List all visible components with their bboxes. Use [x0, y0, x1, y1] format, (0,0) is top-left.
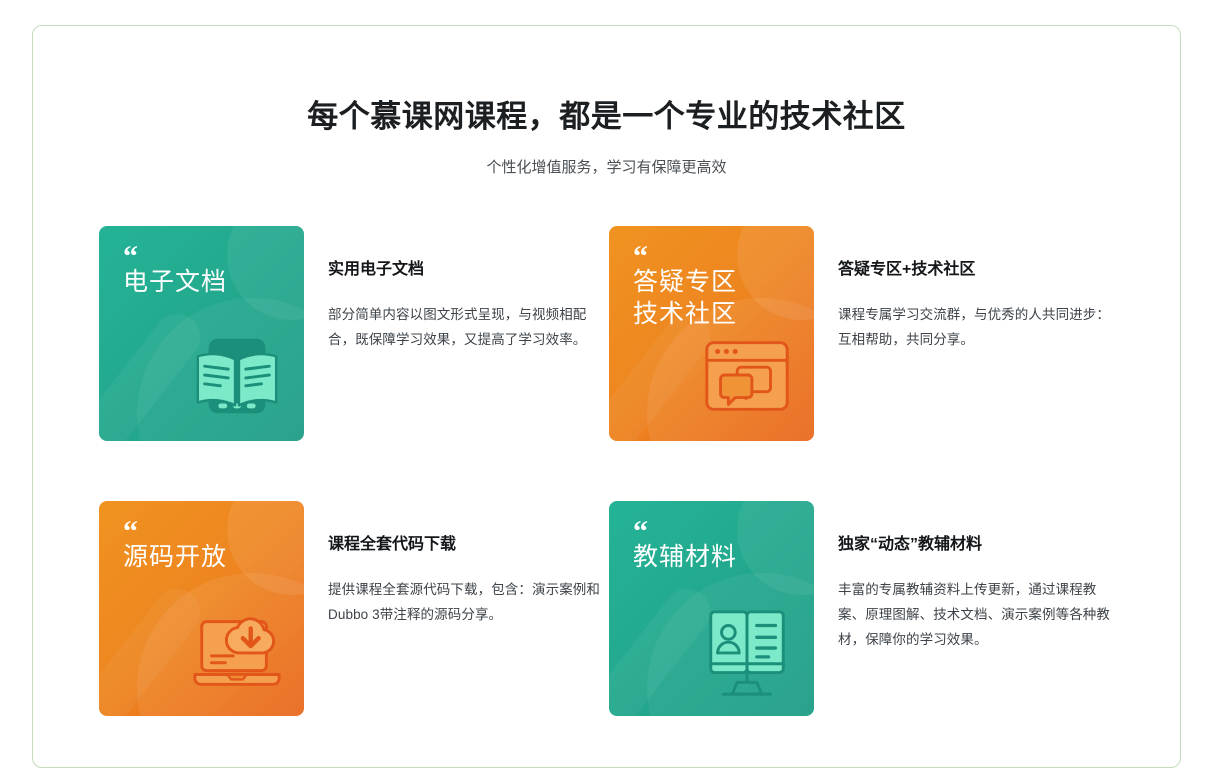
- feature-text-block: 独家“动态”教辅材料 丰富的专属教辅资料上传更新，通过课程教案、原理图解、技术文…: [814, 501, 1110, 653]
- feature-item-electronic-docs: “ 电子文档: [99, 226, 609, 441]
- feature-heading: 实用电子文档: [328, 260, 600, 281]
- feature-item-teaching-materials: “ 教辅材料: [609, 501, 1119, 716]
- feature-text-block: 实用电子文档 部分简单内容以图文形式呈现，与视频相配合，既保障学习效果，又提高了…: [304, 226, 600, 353]
- feature-description: 部分简单内容以图文形式呈现，与视频相配合，既保障学习效果，又提高了学习效率。: [328, 303, 600, 353]
- feature-text-block: 课程全套代码下载 提供课程全套源代码下载，包含：演示案例和Dubbo 3带注释的…: [304, 501, 600, 628]
- feature-tile-qa-community[interactable]: “ 答疑专区 技术社区: [609, 226, 814, 441]
- feature-card-grid: “ 电子文档: [99, 226, 1119, 716]
- feature-tile-title: 答疑专区 技术社区: [633, 266, 737, 330]
- feature-text-block: 答疑专区+技术社区 课程专属学习交流群，与优秀的人共同进步：互相帮助，共同分享。: [814, 226, 1110, 353]
- feature-tile-teaching-materials[interactable]: “ 教辅材料: [609, 501, 814, 716]
- content-frame: 每个慕课网课程，都是一个专业的技术社区 个性化增值服务，学习有保障更高效 “ 电…: [32, 25, 1181, 768]
- open-book-tablet-icon: [188, 327, 286, 425]
- feature-tile-title: 源码开放: [123, 541, 227, 573]
- feature-tile-source-code[interactable]: “ 源码开放: [99, 501, 304, 716]
- page-title: 每个慕课网课程，都是一个专业的技术社区: [33, 98, 1180, 135]
- feature-item-source-code: “ 源码开放 课程全套代码下载 提供: [99, 501, 609, 716]
- feature-heading: 答疑专区+技术社区: [838, 260, 1110, 281]
- feature-tile-electronic-docs[interactable]: “ 电子文档: [99, 226, 304, 441]
- feature-description: 丰富的专属教辅资料上传更新，通过课程教案、原理图解、技术文档、演示案例等各种教材…: [838, 578, 1110, 653]
- feature-description: 课程专属学习交流群，与优秀的人共同进步：互相帮助，共同分享。: [838, 303, 1110, 353]
- feature-item-qa-community: “ 答疑专区 技术社区 答疑专区+技术社区: [609, 226, 1119, 441]
- page-subtitle: 个性化增值服务，学习有保障更高效: [33, 159, 1180, 177]
- feature-tile-title: 教辅材料: [633, 541, 737, 573]
- page-header: 每个慕课网课程，都是一个专业的技术社区 个性化增值服务，学习有保障更高效: [33, 26, 1180, 177]
- feature-heading: 课程全套代码下载: [328, 535, 600, 556]
- monitor-book-person-icon: [698, 602, 796, 700]
- browser-chat-bubbles-icon: [698, 327, 796, 425]
- feature-tile-title: 电子文档: [123, 266, 227, 298]
- feature-description: 提供课程全套源代码下载，包含：演示案例和Dubbo 3带注释的源码分享。: [328, 578, 600, 628]
- laptop-cloud-download-icon: [188, 602, 286, 700]
- feature-heading: 独家“动态”教辅材料: [838, 535, 1110, 556]
